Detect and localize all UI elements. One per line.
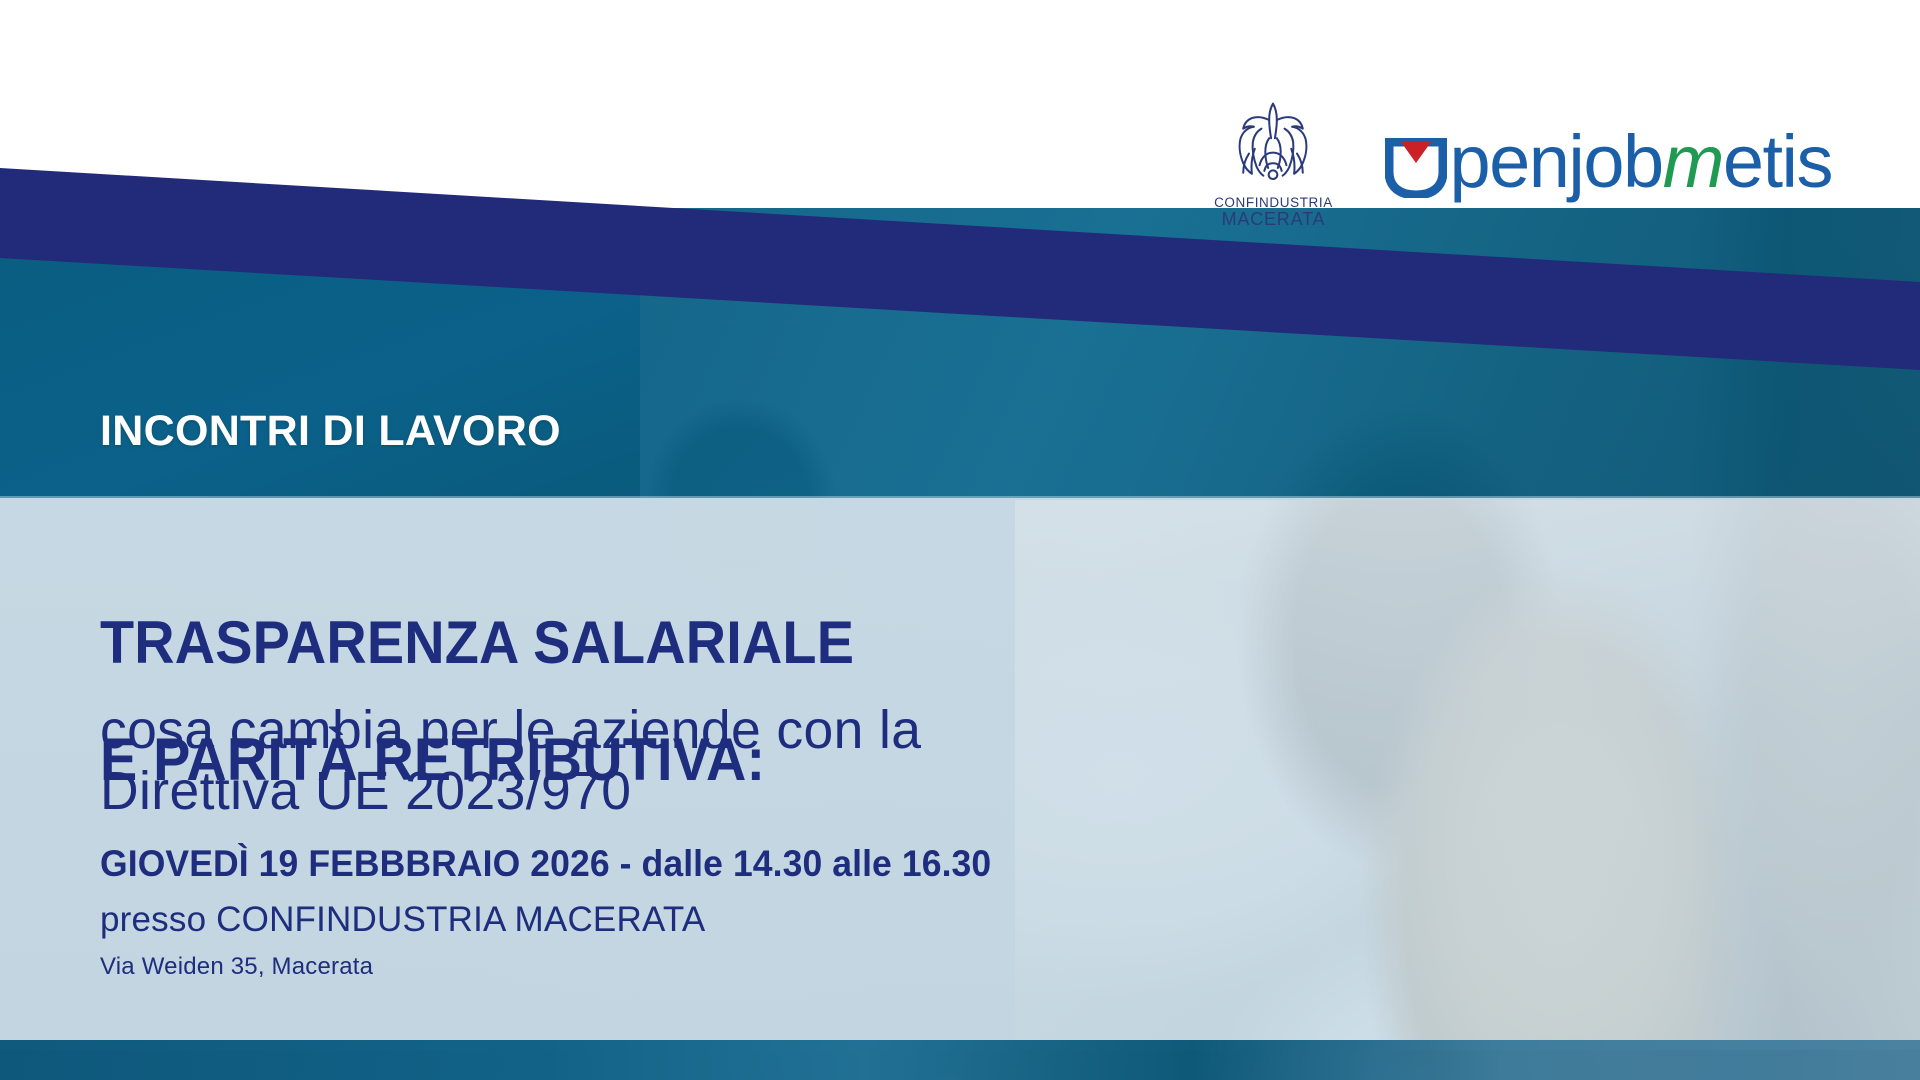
poster-title-line1: TRASPARENZA SALARIALE <box>100 614 854 673</box>
confindustria-wordmark: CONFINDUSTRIA MACERATA <box>1214 196 1333 229</box>
eagle-icon <box>1225 96 1321 192</box>
confindustria-line2: MACERATA <box>1214 210 1333 229</box>
openjobmetis-part1: penjob <box>1449 129 1662 196</box>
event-datetime: GIOVEDÌ 19 FEBBBRAIO 2026 - dalle 14.30 … <box>100 843 991 885</box>
poster-subtitle-line1: cosa cambia per le aziende con la <box>100 700 921 761</box>
poster-subtitle-line2: Direttiva UE 2023/970 <box>100 761 921 822</box>
logo-row: CONFINDUSTRIA MACERATA penjob m etis <box>1213 96 1832 229</box>
poster-subtitle: cosa cambia per le aziende con la Dirett… <box>100 700 921 822</box>
u-logo-icon <box>1385 138 1447 196</box>
openjobmetis-logo: penjob m etis <box>1385 129 1832 196</box>
kicker-label: INCONTRI DI LAVORO <box>100 410 561 453</box>
event-address: Via Weiden 35, Macerata <box>100 953 373 981</box>
panel-divider <box>0 496 1920 498</box>
confindustria-logo: CONFINDUSTRIA MACERATA <box>1213 96 1333 229</box>
event-poster: CONFINDUSTRIA MACERATA penjob m etis INC… <box>0 0 1920 1080</box>
event-venue: presso CONFINDUSTRIA MACERATA <box>100 900 705 940</box>
openjobmetis-part2: m <box>1663 129 1723 196</box>
bottom-accent-strip <box>0 1040 1920 1080</box>
confindustria-line1: CONFINDUSTRIA <box>1214 196 1333 210</box>
openjobmetis-part3: etis <box>1723 129 1832 196</box>
